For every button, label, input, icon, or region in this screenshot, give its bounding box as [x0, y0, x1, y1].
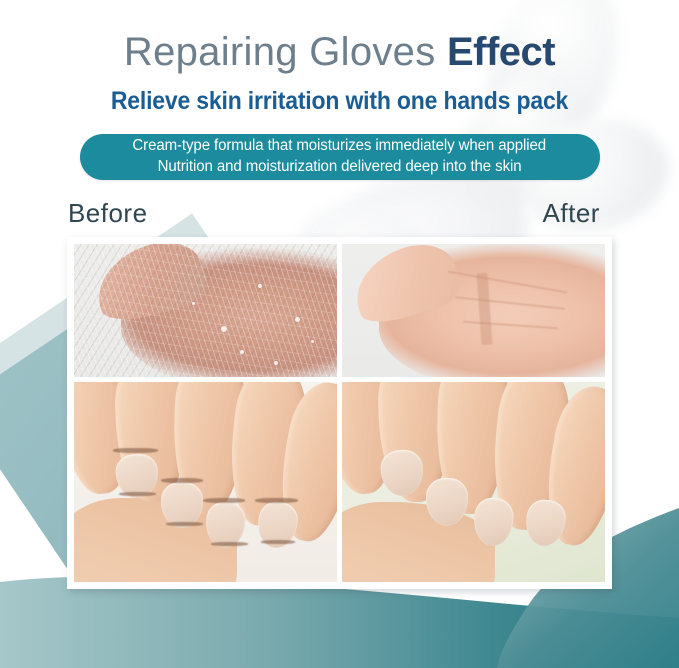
after-label: After — [354, 198, 679, 229]
photo-after-nails — [342, 382, 605, 582]
feature-banner: Cream-type formula that moisturizes imme… — [80, 134, 600, 180]
page-title: Repairing Gloves Effect — [0, 0, 679, 75]
skin-flake — [258, 284, 262, 288]
damaged-cuticle — [119, 492, 156, 496]
poster-content: Repairing Gloves Effect Relieve skin irr… — [0, 0, 679, 589]
damaged-cuticle — [255, 498, 297, 503]
before-after-labels: Before After — [0, 198, 679, 229]
dry-skin-texture — [74, 244, 337, 377]
damaged-cuticle — [211, 542, 248, 546]
damaged-cuticle — [261, 540, 295, 544]
feature-banner-line-1: Cream-type formula that moisturizes imme… — [133, 136, 547, 156]
skin-flake — [274, 361, 278, 365]
photo-after-palm — [342, 244, 605, 377]
feature-banner-line-2: Nutrition and moisturization delivered d… — [158, 157, 522, 177]
damaged-cuticle — [203, 498, 245, 503]
photo-before-palm — [74, 244, 337, 377]
title-accent-part: Effect — [447, 30, 555, 74]
before-after-photo-grid — [67, 237, 612, 589]
skin-flake — [240, 350, 244, 354]
damaged-cuticle — [113, 448, 158, 453]
skin-flake — [295, 317, 300, 322]
product-effect-poster: Repairing Gloves Effect Relieve skin irr… — [0, 0, 679, 668]
skin-flake — [311, 340, 314, 343]
damaged-cuticle — [161, 478, 203, 483]
page-subtitle: Relieve skin irritation with one hands p… — [27, 87, 652, 116]
title-light-part: Repairing Gloves — [124, 30, 447, 74]
photo-before-nails — [74, 382, 337, 582]
before-label: Before — [0, 198, 354, 229]
damaged-cuticle — [166, 522, 203, 526]
